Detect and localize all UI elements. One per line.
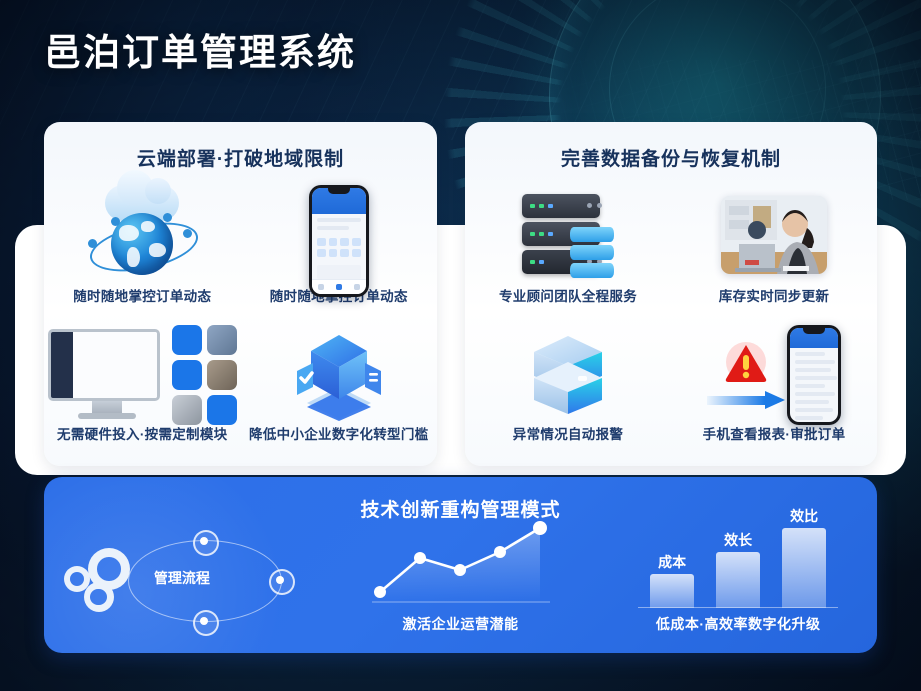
- bar-label: 成本: [658, 552, 686, 572]
- feature-auto-alert: 异常情况自动报警: [465, 327, 671, 443]
- photo-office-scene: [721, 196, 827, 274]
- phone-app-grid: [312, 234, 366, 261]
- bar-cost: 成本: [650, 574, 694, 608]
- feature-caption: 专业顾问团队全程服务: [499, 285, 637, 305]
- tile-icon-camera: [172, 360, 202, 390]
- phone-notch: [328, 188, 350, 194]
- line-chart: [366, 518, 556, 610]
- cloud-globe-icon: [67, 185, 217, 285]
- poster-canvas: 邑泊订单管理系统 云端部署·打破地域限制: [0, 0, 921, 691]
- feature-caption: 库存实时同步更新: [719, 285, 829, 305]
- blue-server-icon: [473, 327, 663, 423]
- phone-report-icon: [674, 327, 874, 423]
- phone-frame: [309, 185, 369, 297]
- monitor-shape: [48, 329, 166, 421]
- orbit-node: [163, 213, 172, 222]
- feature-caption: 手机查看报表·审批订单: [703, 423, 846, 443]
- phone-notch: [803, 328, 825, 334]
- feature-inventory-sync: 库存实时同步更新: [671, 185, 877, 305]
- tile-photo-device: [172, 395, 202, 425]
- monitor-stand: [92, 401, 122, 413]
- module-tiles: [172, 325, 237, 425]
- desktop-monitor-icon: [47, 327, 237, 423]
- tile-photo-office: [207, 360, 237, 390]
- phone-screen: [312, 188, 366, 294]
- bar-chart-block: 成本 效长 效比 低成本·高效率数字化升级: [599, 508, 877, 634]
- tile-icon-screen: [172, 325, 202, 355]
- gears-icon: 管理流程: [58, 526, 308, 634]
- bar-growth: 效长: [716, 552, 760, 608]
- feature-mobile-approval: 手机查看报表·审批订单: [671, 327, 877, 443]
- flow-arrow-icon: [707, 392, 785, 408]
- line-chart-svg: [366, 518, 556, 610]
- feature-smartphone: 随时随地掌控订单动态: [241, 185, 438, 305]
- management-flow-block: 管理流程: [44, 526, 322, 634]
- bar-chart: 成本 效长 效比: [638, 508, 838, 608]
- phone-screen: [790, 328, 838, 422]
- feature-desktop-modules: 无需硬件投入·按需定制模块: [44, 327, 241, 443]
- line-chart-caption: 激活企业运营潜能: [403, 614, 519, 634]
- line-chart-block: 激活企业运营潜能: [322, 518, 600, 634]
- phone-frame: [787, 325, 841, 425]
- bottom-highlight-panel: 技术创新重构管理模式 管理流程: [44, 477, 877, 653]
- feature-caption: 随时随地掌控订单动态: [73, 285, 211, 305]
- flow-node-right: [269, 569, 295, 595]
- feature-server-stack: 专业顾问团队全程服务: [465, 185, 671, 305]
- gear-large: [88, 548, 130, 590]
- blue-server-svg: [522, 332, 614, 418]
- feature-caption: 异常情况自动报警: [513, 423, 623, 443]
- feature-cloud-globe: 随时随地掌控订单动态: [44, 185, 241, 305]
- gear-medium: [84, 582, 114, 612]
- bar-chart-axis: [638, 607, 838, 608]
- feature-card-data-backup: 完善数据备份与恢复机制 专业顾问团队全程服务: [465, 122, 877, 466]
- office-photo-icon: [684, 185, 864, 285]
- page-title: 邑泊订单管理系统: [44, 22, 356, 76]
- feature-digital-threshold: 降低中小企业数字化转型门槛: [241, 327, 438, 443]
- flow-node-bottom: [193, 610, 219, 636]
- bar-label: 效长: [724, 530, 752, 550]
- flow-node-top: [193, 530, 219, 556]
- cube-checkmark-icon: [249, 327, 429, 423]
- monitor-screen: [48, 329, 160, 401]
- tile-icon-headset: [207, 395, 237, 425]
- server-shape: [522, 192, 614, 278]
- globe-shape: [111, 213, 173, 275]
- database-disks: [570, 226, 614, 278]
- feature-caption: 无需硬件投入·按需定制模块: [57, 423, 227, 443]
- feature-caption: 降低中小企业数字化转型门槛: [249, 423, 428, 443]
- flow-label: 管理流程: [154, 568, 210, 588]
- server-stack-icon: [478, 185, 658, 285]
- flow-ellipse: [128, 540, 282, 622]
- feature-card-cloud-deployment: 云端部署·打破地域限制 随时随地掌控订单动: [44, 122, 437, 466]
- phone-tabbar: [312, 279, 366, 294]
- cube-svg: [291, 329, 387, 421]
- bar-efficiency: 效比: [782, 528, 826, 608]
- monitor-base: [78, 413, 136, 419]
- card-title-left: 云端部署·打破地域限制: [44, 144, 437, 171]
- bar-chart-caption: 低成本·高效率数字化升级: [656, 614, 821, 634]
- warning-triangle-icon: [723, 342, 769, 384]
- gear-small: [64, 566, 90, 592]
- bar-label: 效比: [790, 506, 818, 526]
- tile-photo-lab: [207, 325, 237, 355]
- smartphone-icon: [264, 185, 414, 285]
- card-title-right: 完善数据备份与恢复机制: [465, 144, 877, 171]
